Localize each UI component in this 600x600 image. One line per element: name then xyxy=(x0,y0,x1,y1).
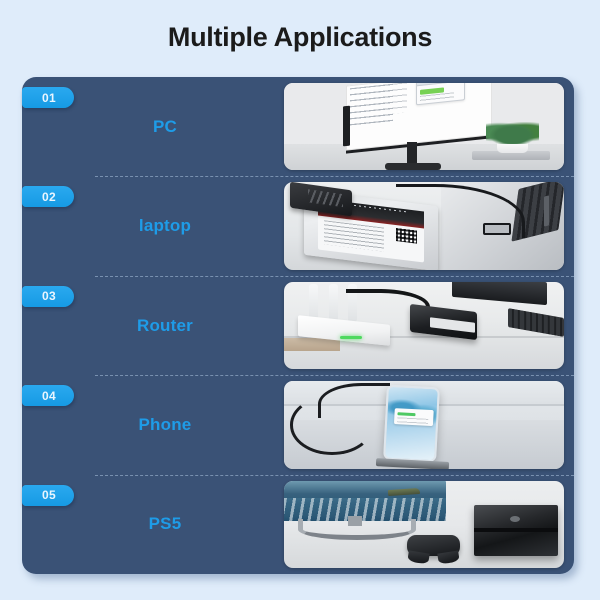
console-logo xyxy=(510,516,520,522)
game-ocean xyxy=(284,498,446,521)
row-number-badge: 03 xyxy=(22,286,74,307)
plant-leaves xyxy=(486,122,539,144)
background-keyboard xyxy=(508,308,564,337)
row-number-badge: 01 xyxy=(22,87,74,108)
usb-plug xyxy=(483,223,511,235)
thumbnail-laptop[interactable] xyxy=(284,182,564,269)
game-boat xyxy=(388,488,421,497)
router-status-led xyxy=(340,336,362,339)
row-label: Phone xyxy=(139,415,192,435)
row-left-ps5: 05 PS5 xyxy=(22,475,284,574)
smartphone xyxy=(383,385,440,463)
background-monitor xyxy=(452,282,547,305)
row-right-laptop xyxy=(284,176,574,275)
row-right-pc xyxy=(284,77,574,176)
sata-adapter xyxy=(290,182,352,216)
row-left-phone: 04 Phone xyxy=(22,375,284,474)
row-right-phone xyxy=(284,375,574,474)
row-left-pc: 01 PC xyxy=(22,77,284,176)
row-label: PS5 xyxy=(149,514,182,534)
monitor-bezel xyxy=(343,105,350,146)
window-titlebar xyxy=(416,83,464,86)
monitor-base xyxy=(385,163,441,169)
row-right-ps5 xyxy=(284,475,574,574)
application-row-pc[interactable]: 01 PC xyxy=(22,77,574,176)
row-number-badge: 05 xyxy=(22,485,74,506)
applications-card: 01 PC xyxy=(22,77,574,574)
page-title: Multiple Applications xyxy=(0,22,600,53)
thumbnail-router[interactable] xyxy=(284,282,564,369)
monitor-neck xyxy=(407,142,417,165)
thumbnail-ps5[interactable] xyxy=(284,481,564,568)
row-left-router: 03 Router xyxy=(22,276,284,375)
code-text-block-secondary xyxy=(381,83,407,114)
monitor-stand xyxy=(298,519,416,540)
row-number-badge: 04 xyxy=(22,385,74,406)
label-spec-lines xyxy=(324,221,384,252)
game-console xyxy=(474,505,558,556)
spreadsheet-window xyxy=(415,83,465,105)
dialog-text-lines xyxy=(397,417,429,424)
row-label: Router xyxy=(137,316,193,336)
laptop-usb-ports xyxy=(544,196,549,227)
row-left-laptop: 02 laptop xyxy=(22,176,284,275)
adapter-grill xyxy=(308,189,342,207)
phone-dialog xyxy=(394,409,434,427)
thumbnail-pc[interactable] xyxy=(284,83,564,170)
game-controller xyxy=(407,535,460,556)
application-rows: 01 PC xyxy=(22,77,574,574)
thumbnail-phone[interactable] xyxy=(284,381,564,468)
application-row-laptop[interactable]: 02 laptop xyxy=(22,176,574,275)
row-label: laptop xyxy=(139,216,191,236)
application-row-phone[interactable]: 04 Phone xyxy=(22,375,574,474)
router-antenna xyxy=(329,284,338,322)
row-right-router xyxy=(284,276,574,375)
row-number-badge: 02 xyxy=(22,186,74,207)
monitor-game-screen xyxy=(284,481,446,521)
application-row-router[interactable]: 03 Router xyxy=(22,276,574,375)
row-label: PC xyxy=(153,117,177,137)
console-vent xyxy=(474,528,558,532)
application-row-ps5[interactable]: 05 PS5 xyxy=(22,475,574,574)
